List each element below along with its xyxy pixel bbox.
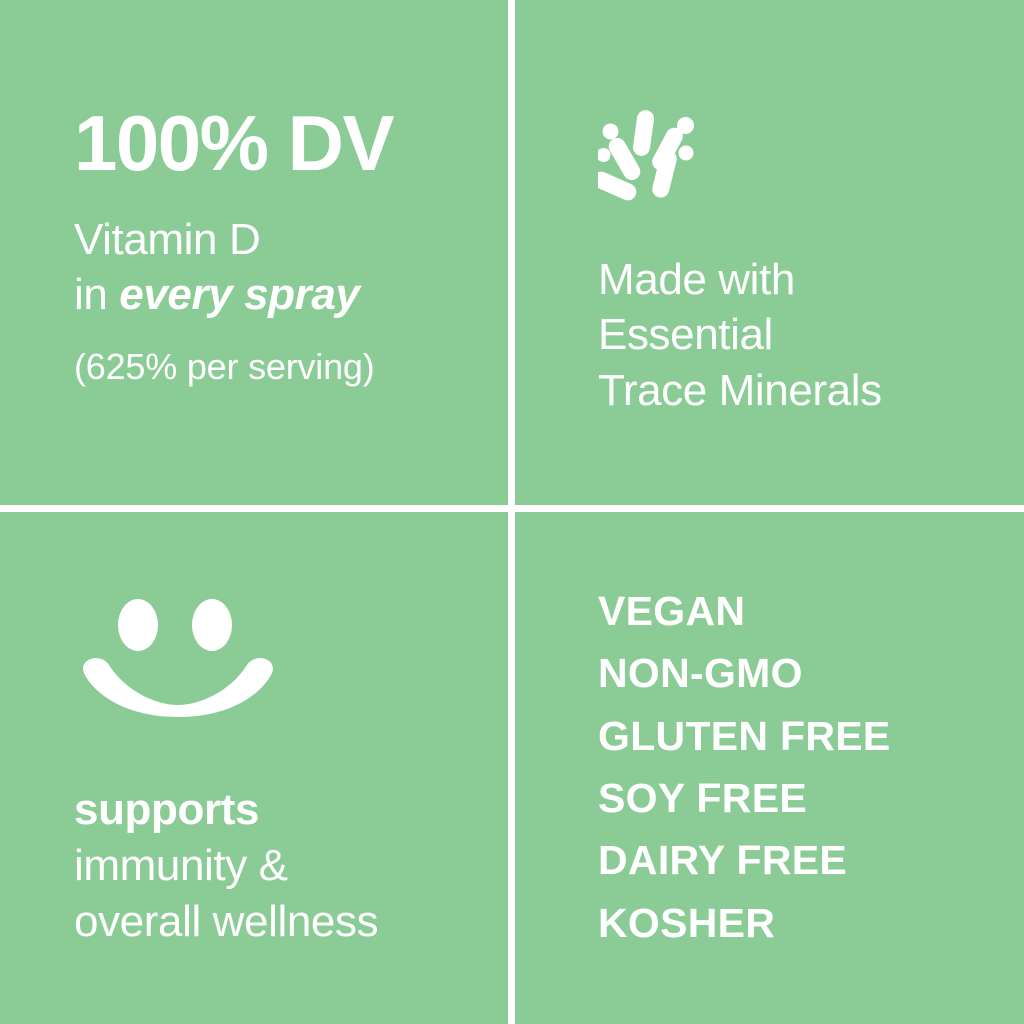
certification-item: VEGAN <box>598 580 1018 642</box>
certification-list: VEGAN NON-GMO GLUTEN FREE SOY FREE DAIRY… <box>598 580 1018 954</box>
smiley-face-icon <box>78 597 278 717</box>
wellness-line-3: overall wellness <box>74 894 494 950</box>
vitamin-d-line-2-prefix: in <box>74 270 119 319</box>
panel-trace-minerals: Made with Essential Trace Minerals <box>515 0 1023 505</box>
trace-minerals-line-2: Essential <box>598 307 998 362</box>
vitamin-d-line-2: in every spray <box>74 267 494 322</box>
certification-item: NON-GMO <box>598 642 1018 704</box>
horizontal-divider <box>0 505 1024 512</box>
benefits-infographic: 100% DV Vitamin D in every spray (625% p… <box>0 0 1024 1024</box>
certification-item: KOSHER <box>598 892 1018 954</box>
certification-item: SOY FREE <box>598 767 1018 829</box>
panel-wellness: supports immunity & overall wellness <box>0 512 508 1017</box>
trace-minerals-text: Made with Essential Trace Minerals <box>598 252 998 418</box>
panel-certifications: VEGAN NON-GMO GLUTEN FREE SOY FREE DAIRY… <box>515 512 1023 1017</box>
trace-minerals-line-1: Made with <box>598 252 998 307</box>
certification-item: DAIRY FREE <box>598 829 1018 891</box>
wellness-text: supports immunity & overall wellness <box>74 782 494 950</box>
grain-minerals-icon <box>598 108 702 202</box>
certification-item: GLUTEN FREE <box>598 705 1018 767</box>
trace-minerals-line-3: Trace Minerals <box>598 363 998 418</box>
wellness-line-2: immunity & <box>74 838 494 894</box>
vitamin-d-subtext: Vitamin D in every spray <box>74 212 494 323</box>
vitamin-d-headline: 100% DV <box>74 108 494 180</box>
panel-vitamin-d: 100% DV Vitamin D in every spray (625% p… <box>0 0 508 505</box>
wellness-line-1: supports <box>74 782 494 838</box>
vertical-divider <box>508 0 515 1024</box>
vitamin-d-line-2-emphasis: every spray <box>119 270 359 319</box>
vitamin-d-fine-print: (625% per serving) <box>74 345 494 388</box>
vitamin-d-line-1: Vitamin D <box>74 212 494 267</box>
